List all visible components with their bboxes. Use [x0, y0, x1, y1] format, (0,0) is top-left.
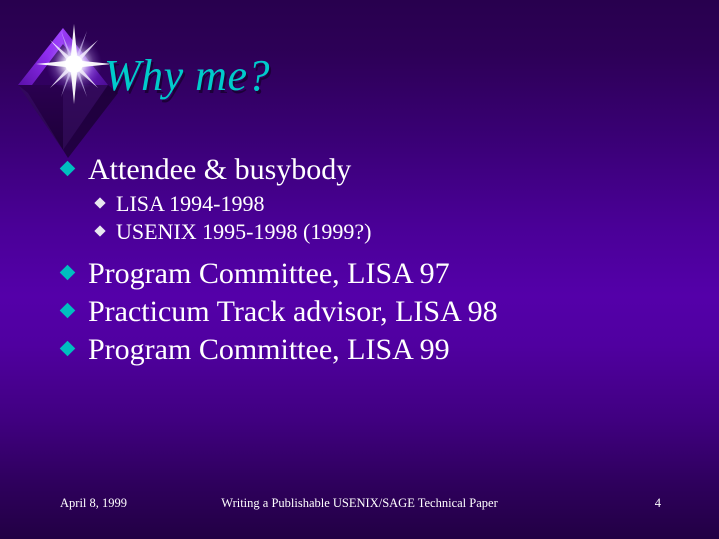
bullet-label: Attendee & busybody	[88, 152, 351, 188]
presentation-slide: Why me? Attendee & busybody LISA 1994-19…	[0, 0, 719, 539]
bullet-diamond-icon	[60, 265, 76, 281]
bullet-item-usenix-years: USENIX 1995-1998 (1999?)	[0, 218, 719, 245]
sub-bullet-diamond-icon	[94, 225, 105, 236]
sub-bullet-label: USENIX 1995-1998 (1999?)	[116, 218, 371, 245]
sparkle-icon	[36, 24, 112, 104]
bullet-item-program-committee-99: Program Committee, LISA 99	[0, 332, 719, 368]
slide-footer: April 8, 1999 Writing a Publishable USEN…	[0, 494, 719, 514]
bullet-label: Program Committee, LISA 97	[88, 256, 450, 292]
bullet-item-lisa-years: LISA 1994-1998	[0, 190, 719, 217]
footer-title: Writing a Publishable USENIX/SAGE Techni…	[0, 494, 719, 512]
spacer	[0, 246, 719, 256]
sub-bullet-diamond-icon	[94, 197, 105, 208]
bullet-label: Program Committee, LISA 99	[88, 332, 450, 368]
bullet-diamond-icon	[60, 341, 76, 357]
bullet-label: Practicum Track advisor, LISA 98	[88, 294, 498, 330]
bullet-diamond-icon	[60, 303, 76, 319]
sub-bullet-label: LISA 1994-1998	[116, 190, 265, 217]
slide-body: Attendee & busybody LISA 1994-1998 USENI…	[0, 152, 719, 370]
bullet-diamond-icon	[60, 161, 76, 177]
footer-page-number: 4	[655, 494, 661, 512]
bullet-item-program-committee-97: Program Committee, LISA 97	[0, 256, 719, 292]
bullet-item-practicum-track-98: Practicum Track advisor, LISA 98	[0, 294, 719, 330]
bullet-item-attendee: Attendee & busybody	[0, 152, 719, 188]
slide-title: Why me?	[104, 50, 270, 101]
